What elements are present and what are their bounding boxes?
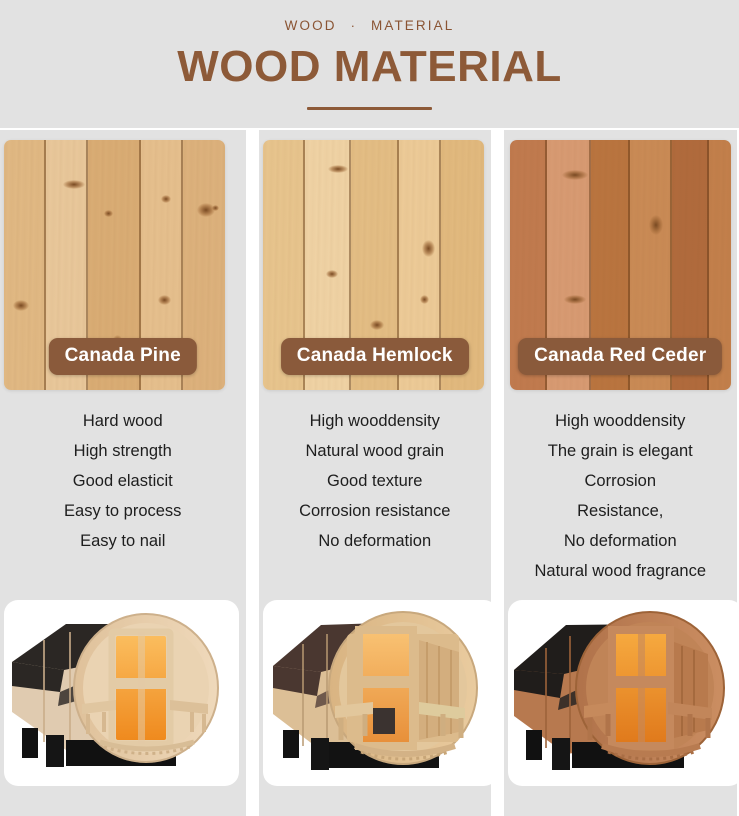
feature-item: High wooddensity bbox=[555, 410, 685, 432]
feature-list-pine: Hard wood High strength Good elasticit E… bbox=[0, 410, 246, 552]
feature-item: Easy to process bbox=[64, 500, 181, 522]
material-column-pine[interactable]: Canada Pine Hard wood High strength Good… bbox=[0, 128, 246, 816]
feature-item: High wooddensity bbox=[310, 410, 440, 432]
eyebrow-separator-dot: · bbox=[348, 18, 360, 33]
feature-item: Good texture bbox=[327, 470, 422, 492]
feature-item: Hard wood bbox=[83, 410, 163, 432]
eyebrow-left-label: WOOD bbox=[285, 18, 337, 33]
feature-item: Natural wood grain bbox=[306, 440, 445, 462]
feature-item: Natural wood fragrance bbox=[534, 560, 706, 582]
wood-material-page: WOOD · MATERIAL WOOD MATERIAL bbox=[0, 0, 739, 816]
page-title: WOOD MATERIAL bbox=[177, 45, 562, 89]
feature-list-red-cedar: High wooddensity The grain is elegant Co… bbox=[504, 410, 737, 582]
product-photo-red-cedar bbox=[504, 600, 737, 816]
feature-item: Good elasticit bbox=[73, 470, 173, 492]
eyebrow-right-label: MATERIAL bbox=[371, 18, 454, 33]
feature-item: Resistance, bbox=[577, 500, 663, 522]
product-photo-hemlock bbox=[259, 600, 492, 816]
material-column-red-cedar[interactable]: Canada Red Ceder High wooddensity The gr… bbox=[491, 128, 737, 816]
page-header: WOOD · MATERIAL WOOD MATERIAL bbox=[0, 0, 739, 128]
material-badge-red-cedar[interactable]: Canada Red Ceder bbox=[518, 338, 722, 375]
sauna-illustration-pine bbox=[4, 600, 239, 786]
product-photo-pine bbox=[0, 600, 246, 816]
sauna-illustration-red-cedar bbox=[508, 600, 739, 786]
header-eyebrow: WOOD · MATERIAL bbox=[285, 18, 455, 33]
sauna-illustration-hemlock bbox=[263, 600, 498, 786]
material-badge-hemlock[interactable]: Canada Hemlock bbox=[281, 338, 469, 375]
title-underline-divider bbox=[307, 107, 432, 110]
material-column-hemlock[interactable]: Canada Hemlock High wooddensity Natural … bbox=[246, 128, 492, 816]
feature-item: No deformation bbox=[564, 530, 677, 552]
feature-item: High strength bbox=[74, 440, 172, 462]
feature-item: Corrosion resistance bbox=[299, 500, 450, 522]
material-badge-pine[interactable]: Canada Pine bbox=[49, 338, 197, 375]
feature-item: Corrosion bbox=[584, 470, 656, 492]
feature-item: The grain is elegant bbox=[548, 440, 693, 462]
feature-item: Easy to nail bbox=[80, 530, 165, 552]
feature-list-hemlock: High wooddensity Natural wood grain Good… bbox=[259, 410, 492, 552]
feature-item: No deformation bbox=[318, 530, 431, 552]
material-columns: Canada Pine Hard wood High strength Good… bbox=[0, 128, 739, 816]
